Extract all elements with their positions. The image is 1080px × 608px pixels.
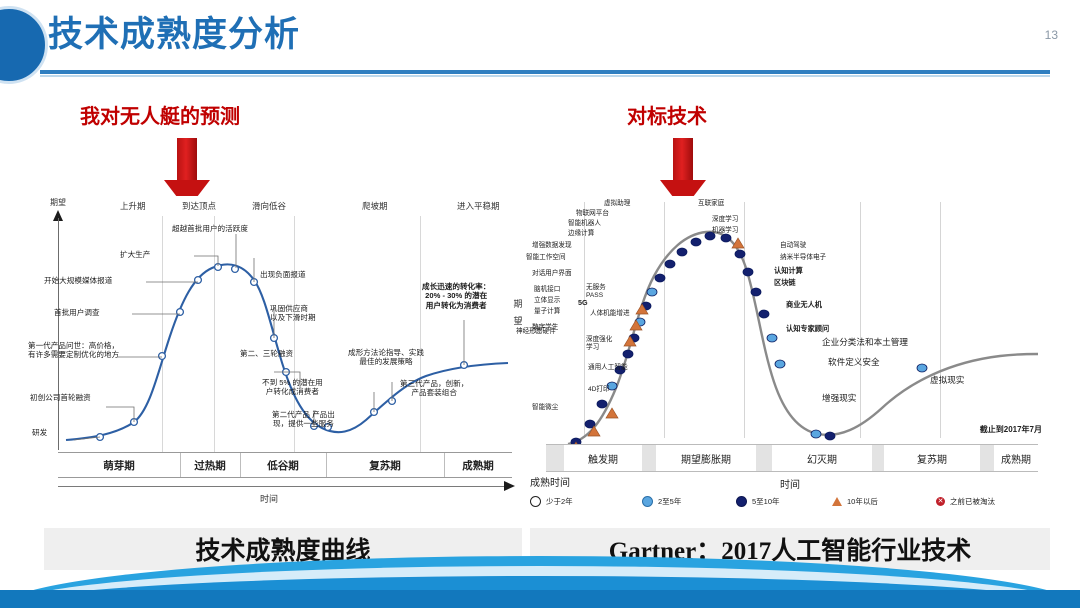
left-chart-x-axis-arrow-icon — [504, 481, 515, 491]
legend-label-4: 之前已被淘汰 — [950, 496, 995, 507]
legend-item-1: 2至5年 — [642, 496, 681, 507]
point-label-smart-robot: 智能机器人 — [568, 220, 601, 228]
point-label-quantum: 量子计算 — [534, 308, 560, 316]
point-label-smart-workspace: 智能工作空间 — [526, 254, 566, 262]
hype-cycle-chart-left: 上升期 到达顶点 滑向低谷 爬坡期 进入平稳期 期望 — [22, 196, 518, 522]
point-label-agi: 通用人工智能 — [588, 364, 628, 372]
left-chart-phase-band: 萌芽期 过热期 低谷期 复苏期 成熟期 — [58, 452, 512, 478]
point-label-cognitive-expert-advisor: 认知专家顾问 — [786, 324, 829, 333]
ann-fast-conversion: 成长迅速的转化率： 20% - 30% 的潜在 用户转化为消费者 — [422, 282, 490, 310]
point-label-cognitive-computing: 认知计算 — [774, 266, 803, 275]
legend-item-0: 少于2年 — [530, 496, 573, 507]
gartner-phase-3: 复苏期 — [884, 445, 980, 471]
phase-2: 低谷期 — [240, 453, 327, 477]
cutoff-note: 截止到2017年7月 — [980, 424, 1042, 435]
point-label-deep-learning: 深度学习 — [712, 216, 738, 224]
ann-scale-production: 扩大生产 — [120, 250, 150, 259]
point-label-commercial-drone: 商业无人机 — [786, 300, 822, 309]
header-rule-secondary — [40, 75, 1050, 77]
legend-triangle-icon — [832, 497, 842, 506]
point-label-virtual-reality: 虚拟现实 — [930, 374, 964, 386]
ann-rd: 研发 — [32, 428, 47, 437]
gartner-legend: 少于2年 2至5年 5至10年 10年以后 ✕ 之前已被淘汰 — [530, 496, 1050, 516]
gartner-phase-2: 幻灭期 — [772, 445, 872, 471]
point-label-nano-semiconductor: 纳米半导体电子 — [780, 254, 826, 262]
phase-4: 成熟期 — [444, 453, 512, 477]
section-heading-left: 我对无人艇的预测 — [80, 100, 240, 129]
legend-open-circle-icon — [530, 496, 541, 507]
legend-item-3: 10年以后 — [832, 496, 878, 507]
legend-item-4: ✕ 之前已被淘汰 — [936, 496, 995, 507]
legend-obsolete-icon: ✕ — [936, 497, 945, 506]
footer-wave-4 — [0, 590, 1080, 608]
left-chart-x-axis-label: 时间 — [260, 492, 278, 505]
point-label-autonomous-driving: 自动驾驶 — [780, 242, 806, 250]
gartner-hype-cycle-chart: 期望 件 — [530, 196, 1050, 522]
point-label-bci: 脑机接口 — [534, 286, 560, 294]
point-label-serverless-paas: 无服务PASS — [586, 284, 606, 300]
point-label-augmented-data-discovery: 增强数据发现 — [532, 242, 572, 250]
ann-second-gen-product: 第二代产品 产品出 现，提供一些服务 — [272, 410, 335, 429]
right-chart-y-axis-label: 期望 — [512, 296, 524, 330]
ann-first-gen-product: 第一代产品问世：高价格， 有许多需要定制优化的地方 — [28, 341, 119, 360]
point-label-enterprise-taxonomy: 企业分类法和本土管理 — [822, 336, 908, 348]
ann-first-user-survey: 首批用户调查 — [54, 308, 100, 317]
phase-0: 萌芽期 — [58, 453, 181, 477]
point-label-4d-printing: 4D打印 — [588, 386, 610, 394]
point-label-volumetric-display: 立体显示 — [534, 297, 560, 305]
ann-consolidate-suppliers: 巩固供应商 以及下滑时期 — [270, 304, 316, 323]
point-label-blockchain: 区块链 — [774, 278, 796, 287]
point-label-connected-home: 互联家庭 — [698, 200, 724, 208]
point-label-software-defined-security: 软件定义安全 — [828, 356, 880, 368]
legend-label-1: 2至5年 — [658, 496, 681, 507]
point-label-machine-learning: 机器学习 — [712, 227, 738, 235]
point-label-iot-platform: 物联网平台 — [576, 210, 609, 218]
legend-item-2: 5至10年 — [736, 496, 780, 507]
ann-mass-media: 开始大规模媒体报道 — [44, 276, 112, 285]
point-label-deep-rl: 深度强化学习 — [586, 336, 612, 352]
maturity-time-label: 成熟时间 — [530, 474, 570, 489]
ann-methodology: 成形方法论指导、实践 最佳的发展策略 — [348, 348, 424, 367]
right-chart-phase-band: 触发期 期望膨胀期 幻灭期 复苏期 成熟期 — [546, 444, 1038, 472]
point-label-human-augmentation: 人体机能增进 — [590, 310, 630, 318]
point-label-virtual-assistant: 虚拟助理 — [604, 200, 630, 208]
ann-second-third-round: 第二、三轮融资 — [240, 349, 293, 358]
gartner-phase-4: 成熟期 — [994, 445, 1038, 471]
point-label-smart-dust: 智能微尘 — [532, 404, 558, 412]
ann-exceed-early-users: 超越首批用户的活跃度 — [172, 224, 248, 233]
right-chart-x-axis-label: 时间 — [780, 476, 800, 491]
ann-under-5-percent: 不到 5% 的潜在用 户转化成消费者 — [262, 378, 323, 397]
section-heading-right: 对标技术 — [627, 100, 707, 129]
legend-dark-circle-icon — [736, 496, 747, 507]
slide-number: 13 — [1045, 28, 1058, 42]
left-chart-x-axis — [58, 486, 506, 487]
ann-third-gen-product: 第三代产品，创新， 产品套装组合 — [400, 379, 468, 398]
phase-1: 过热期 — [180, 453, 241, 477]
legend-light-circle-icon — [642, 496, 653, 507]
point-label-conversational-ui: 对话用户界面 — [532, 270, 572, 278]
gartner-phase-1: 期望膨胀期 — [656, 445, 756, 471]
ann-seed-funding: 初创公司首轮融资 — [30, 393, 91, 402]
legend-label-2: 5至10年 — [752, 496, 780, 507]
legend-label-3: 10年以后 — [847, 496, 878, 507]
point-label-digital-twin: 数字学生 — [532, 324, 558, 332]
phase-3: 复苏期 — [326, 453, 445, 477]
ann-negative-press: 出现负面报道 — [260, 270, 306, 279]
gartner-phase-0: 触发期 — [564, 445, 642, 471]
point-label-augmented-reality: 增强现实 — [822, 392, 856, 404]
page-title: 技术成熟度分析 — [48, 6, 300, 57]
point-label-edge-computing: 边缘计算 — [568, 230, 594, 238]
legend-label-0: 少于2年 — [546, 496, 573, 507]
header-rule — [40, 70, 1050, 74]
